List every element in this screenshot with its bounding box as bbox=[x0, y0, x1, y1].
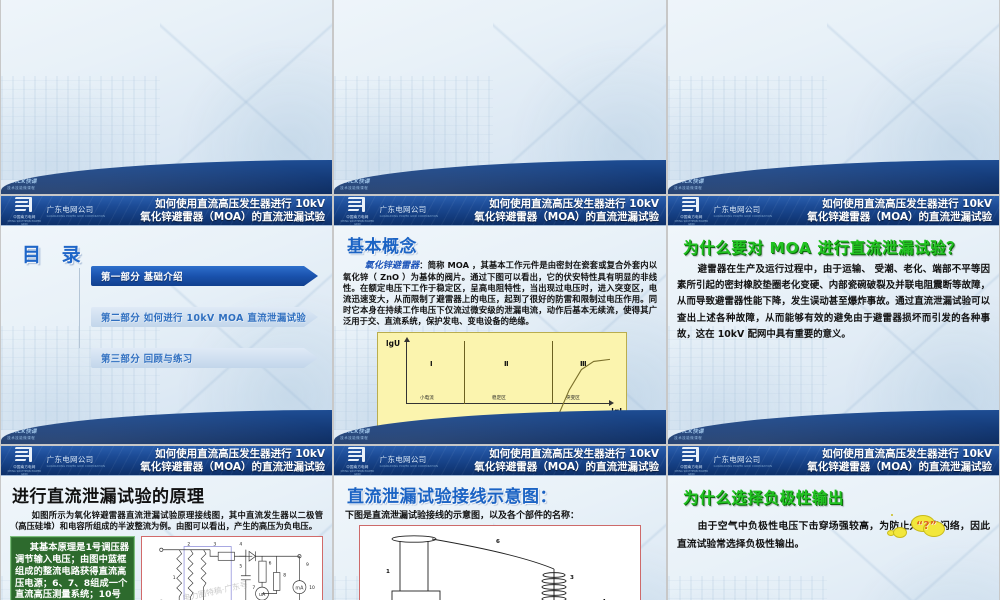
svg-text:uA: uA bbox=[259, 592, 266, 598]
logo-en-text: CHINA SOUTHERN POWER GRID bbox=[673, 220, 710, 226]
company-en: GUANGDONG POWER GRID CORPORATION bbox=[47, 465, 105, 468]
svg-text:3: 3 bbox=[213, 542, 216, 548]
slide-footer-band: QUICK快课 技术技能微课程 bbox=[1, 410, 332, 444]
header-title-line1: 如何使用直流高压发生器进行 10kV bbox=[772, 448, 992, 460]
slide-thumbnail-wiring[interactable]: 中国南方电网 CHINA SOUTHERN POWER GRID 广东电网公司 … bbox=[333, 445, 667, 600]
toc-item-label: 第一部分 基础介绍 bbox=[91, 269, 183, 283]
brand-logo: 中国南方电网 CHINA SOUTHERN POWER GRID 广东电网公司 … bbox=[1, 196, 105, 226]
watermark-brand: QUICK快课 bbox=[6, 429, 37, 435]
rectifier-circuit-diagram: uA mA 12 34 bbox=[141, 536, 323, 600]
header-title-line1: 如何使用直流高压发生器进行 10kV bbox=[105, 448, 325, 460]
slide-footer-band: QUICK快课 技术技能微课程 bbox=[668, 160, 999, 194]
slide-header: 中国南方电网 CHINA SOUTHERN POWER GRID 广东电网公司 … bbox=[1, 196, 332, 226]
body-paragraph: 下图是直流泄漏试验接线的示意图，以及各个部件的名称： bbox=[345, 510, 657, 522]
watermark-brand: QUICK快课 bbox=[339, 429, 370, 435]
brand-logo: 中国南方电网 CHINA SOUTHERN POWER GRID 广东电网公司 … bbox=[668, 196, 772, 226]
slide-thumbnail[interactable]: 拆线工具 若干 QUICK快课 技术技能微课程 bbox=[333, 0, 667, 195]
logo-en-text: CHINA SOUTHERN POWER GRID bbox=[339, 470, 376, 476]
logo-en-text: CHINA SOUTHERN POWER GRID bbox=[6, 220, 43, 226]
slide-header: 中国南方电网 CHINA SOUTHERN POWER GRID 广东电网公司 … bbox=[668, 196, 999, 226]
slide-header: 中国南方电网 CHINA SOUTHERN POWER GRID 广东电网公司 … bbox=[334, 196, 666, 226]
slide-header: 中国南方电网 CHINA SOUTHERN POWER GRID 广东电网公司 … bbox=[668, 446, 999, 476]
company-cn: 广东电网公司 bbox=[47, 204, 105, 215]
thought-cloud-icon: ? bbox=[891, 514, 947, 542]
body-paragraph: 如图所示为氧化锌避雷器直流泄漏试验原理接线图，其中直流发生器以二极管（高压硅堆）… bbox=[10, 510, 323, 532]
slide-thumbnail-why-dc-leakage[interactable]: 中国南方电网 CHINA SOUTHERN POWER GRID 广东电网公司 … bbox=[667, 195, 1000, 445]
header-title-line1: 如何使用直流高压发生器进行 10kV bbox=[438, 448, 659, 460]
header-title-line2: 氧化锌避雷器（MOA）的直流泄漏试验 bbox=[438, 461, 659, 473]
quick-watermark: QUICK快课 技术技能微课程 bbox=[673, 429, 704, 440]
page-title: 为什么要对 MOA 进行直流泄漏试验？ bbox=[683, 236, 990, 258]
header-title-line2: 氧化锌避雷器（MOA）的直流泄漏试验 bbox=[105, 461, 325, 473]
svg-text:5: 5 bbox=[239, 564, 242, 570]
toc-item-label: 第三部分 回顾与练习 bbox=[91, 351, 193, 365]
header-title-line1: 如何使用直流高压发生器进行 10kV bbox=[105, 198, 325, 210]
svg-text:2: 2 bbox=[187, 542, 190, 548]
header-title-line2: 氧化锌避雷器（MOA）的直流泄漏试验 bbox=[105, 211, 325, 223]
body-paragraph: 避雷器在生产及运行过程中，由于运输、 受潮、老化、端部不平等因素所引起的密封橡胶… bbox=[677, 262, 990, 343]
brand-logo: 中国南方电网 CHINA SOUTHERN POWER GRID 广东电网公司 … bbox=[334, 196, 438, 226]
company-cn: 广东电网公司 bbox=[714, 204, 772, 215]
page-title: 为什么选择负极性输出 bbox=[683, 486, 990, 508]
principle-green-callout: 其基本原理是1号调压器调节输入电压；由图中蓝框组成的整流电路获得直流高压电源；6… bbox=[10, 536, 135, 600]
watermark-sub: 技术技能微课程 bbox=[673, 186, 704, 190]
power-grid-logo-icon bbox=[681, 446, 701, 464]
header-title-line2: 氧化锌避雷器（MOA）的直流泄漏试验 bbox=[438, 211, 659, 223]
slide-footer-band: QUICK快课 技术技能微课程 bbox=[1, 160, 332, 194]
brand-logo: 中国南方电网 CHINA SOUTHERN POWER GRID 广东电网公司 … bbox=[334, 446, 438, 476]
svg-text:mA: mA bbox=[295, 586, 304, 592]
svg-text:8: 8 bbox=[283, 573, 286, 579]
company-cn: 广东电网公司 bbox=[47, 454, 105, 465]
svg-text:3: 3 bbox=[570, 575, 574, 581]
toc-item-2[interactable]: 第二部分 如何进行 10kV MOA 直流泄漏试验 bbox=[91, 307, 318, 327]
slide-header-title: 如何使用直流高压发生器进行 10kV 氧化锌避雷器（MOA）的直流泄漏试验 bbox=[438, 448, 666, 473]
header-title-line1: 如何使用直流高压发生器进行 10kV bbox=[772, 198, 992, 210]
slide-header-title: 如何使用直流高压发生器进行 10kV 氧化锌避雷器（MOA）的直流泄漏试验 bbox=[105, 448, 332, 473]
svg-text:9: 9 bbox=[306, 562, 309, 568]
watermark-brand: QUICK快课 bbox=[673, 429, 704, 435]
slide-footer-band: QUICK快课 技术技能微课程 bbox=[668, 410, 999, 444]
svg-text:1: 1 bbox=[386, 569, 390, 575]
page-title: 直流泄漏试验接线示意图： bbox=[347, 482, 657, 507]
quick-watermark: QUICK快课 技术技能微课程 bbox=[6, 179, 37, 190]
svg-text:1: 1 bbox=[173, 575, 176, 581]
watermark-brand: QUICK快课 bbox=[6, 179, 37, 185]
svg-text:6: 6 bbox=[496, 539, 500, 545]
slide-body: 直流泄漏试验接线示意图： 下图是直流泄漏试验接线的示意图，以及各个部件的名称： bbox=[334, 476, 666, 600]
slide-thumbnail-toc[interactable]: 中国南方电网 CHINA SOUTHERN POWER GRID 广东电网公司 … bbox=[0, 195, 333, 445]
toc-item-3[interactable]: 第三部分 回顾与练习 bbox=[91, 348, 318, 368]
company-cn: 广东电网公司 bbox=[380, 204, 438, 215]
company-en: GUANGDONG POWER GRID CORPORATION bbox=[714, 465, 772, 468]
slide-body: 为什么选择负极性输出 ? 由于空气中负极性电压下击穿场强较高，为防止外绝缘闪络，… bbox=[668, 476, 999, 600]
slide-thumbnail-basic-concept[interactable]: 中国南方电网 CHINA SOUTHERN POWER GRID 广东电网公司 … bbox=[333, 195, 667, 445]
page-title: 进行直流泄漏试验的原理 bbox=[12, 482, 323, 507]
watermark-sub: 技术技能微课程 bbox=[6, 436, 37, 440]
chart-plot-area: lgU lgI Ⅰ Ⅱ Ⅲ 小电流 稳定区 突变区 bbox=[384, 338, 620, 416]
slide-thumbnail[interactable]: QUICK快课 技术技能微课程 bbox=[667, 0, 1000, 195]
company-cn: 广东电网公司 bbox=[714, 454, 772, 465]
watermark-sub: 技术技能微课程 bbox=[339, 186, 370, 190]
brand-logo: 中国南方电网 CHINA SOUTHERN POWER GRID 广东电网公司 … bbox=[668, 446, 772, 476]
wiring-svg: 1 2 3 4 5 6 7 8 bbox=[363, 529, 637, 600]
slide-header-title: 如何使用直流高压发生器进行 10kV 氧化锌避雷器（MOA）的直流泄漏试验 bbox=[105, 198, 332, 223]
page-title: 目 录 bbox=[22, 240, 323, 267]
power-grid-logo-icon bbox=[681, 196, 701, 214]
toc-item-label: 第二部分 如何进行 10kV MOA 直流泄漏试验 bbox=[91, 310, 306, 324]
toc-item-1[interactable]: 第一部分 基础介绍 bbox=[91, 266, 318, 286]
power-grid-logo-icon bbox=[347, 196, 367, 214]
svg-text:7: 7 bbox=[252, 585, 255, 591]
svg-text:4: 4 bbox=[239, 542, 242, 548]
principle-content-row: 其基本原理是1号调压器调节输入电压；由图中蓝框组成的整流电路获得直流高压电源；6… bbox=[10, 536, 323, 600]
header-title-line1: 如何使用直流高压发生器进行 10kV bbox=[438, 198, 659, 210]
toc-list: 第一部分 基础介绍 第二部分 如何进行 10kV MOA 直流泄漏试验 第三部分… bbox=[91, 266, 318, 389]
svg-text:6: 6 bbox=[269, 561, 272, 567]
svg-text:10: 10 bbox=[309, 585, 315, 591]
logo-en-text: CHINA SOUTHERN POWER GRID bbox=[339, 220, 376, 226]
quick-watermark: QUICK快课 技术技能微课程 bbox=[339, 179, 370, 190]
header-title-line2: 氧化锌避雷器（MOA）的直流泄漏试验 bbox=[772, 461, 992, 473]
slide-thumbnail[interactable]: QUICK快课 技术技能微课程 bbox=[0, 0, 333, 195]
company-en: GUANGDONG POWER GRID CORPORATION bbox=[714, 215, 772, 218]
slide-thumbnail-principle[interactable]: 中国南方电网 CHINA SOUTHERN POWER GRID 广东电网公司 … bbox=[0, 445, 333, 600]
logo-en-text: CHINA SOUTHERN POWER GRID bbox=[673, 470, 710, 476]
slide-header-title: 如何使用直流高压发生器进行 10kV 氧化锌避雷器（MOA）的直流泄漏试验 bbox=[772, 448, 999, 473]
slide-body: 进行直流泄漏试验的原理 如图所示为氧化锌避雷器直流泄漏试验原理接线图，其中直流发… bbox=[1, 476, 332, 600]
slide-footer-band: QUICK快课 技术技能微课程 bbox=[334, 410, 666, 444]
power-grid-logo-icon bbox=[14, 446, 34, 464]
watermark-sub: 技术技能微课程 bbox=[673, 436, 704, 440]
slide-footer-band: QUICK快课 技术技能微课程 bbox=[334, 160, 666, 194]
page-title: 基本概念 bbox=[347, 232, 657, 257]
quick-watermark: QUICK快课 技术技能微课程 bbox=[673, 179, 704, 190]
logo-en-text: CHINA SOUTHERN POWER GRID bbox=[6, 470, 43, 476]
slide-header: 中国南方电网 CHINA SOUTHERN POWER GRID 广东电网公司 … bbox=[334, 446, 666, 476]
chart-ylabel: lgU bbox=[386, 339, 400, 348]
slide-thumbnail-negative-polarity[interactable]: 中国南方电网 CHINA SOUTHERN POWER GRID 广东电网公司 … bbox=[667, 445, 1000, 600]
quick-watermark: QUICK快课 技术技能微课程 bbox=[339, 429, 370, 440]
concept-paragraph: 氧化锌避雷器：简称 MOA ，其基本工作元件是由密封在瓷套或复合外套内以氧化锌（… bbox=[343, 260, 657, 328]
slide-header: 中国南方电网 CHINA SOUTHERN POWER GRID 广东电网公司 … bbox=[1, 446, 332, 476]
company-en: GUANGDONG POWER GRID CORPORATION bbox=[380, 465, 438, 468]
quick-watermark: QUICK快课 技术技能微课程 bbox=[6, 429, 37, 440]
toc-divider bbox=[79, 268, 80, 348]
slide-header-title: 如何使用直流高压发生器进行 10kV 氧化锌避雷器（MOA）的直流泄漏试验 bbox=[772, 198, 999, 223]
watermark-brand: QUICK快课 bbox=[339, 179, 370, 185]
header-title-line2: 氧化锌避雷器（MOA）的直流泄漏试验 bbox=[772, 211, 992, 223]
slide-thumbnail-grid: QUICK快课 技术技能微课程 拆线工具 若干 QUICK快课 技术技能微课程 … bbox=[0, 0, 1000, 545]
question-mark-glyph: ? bbox=[916, 519, 937, 532]
wiring-schematic: 1 2 3 4 5 6 7 8 AC220V 直流泄漏试验接线示意图 1、直流发… bbox=[359, 525, 641, 600]
concept-keyword: 氧化锌避雷器 bbox=[365, 261, 420, 271]
power-grid-logo-icon bbox=[347, 446, 367, 464]
watermark-brand: QUICK快课 bbox=[673, 179, 704, 185]
company-en: GUANGDONG POWER GRID CORPORATION bbox=[47, 215, 105, 218]
watermark-sub: 技术技能微课程 bbox=[339, 436, 370, 440]
watermark-sub: 技术技能微课程 bbox=[6, 186, 37, 190]
slide-header-title: 如何使用直流高压发生器进行 10kV 氧化锌避雷器（MOA）的直流泄漏试验 bbox=[438, 198, 666, 223]
power-grid-logo-icon bbox=[14, 196, 34, 214]
company-cn: 广东电网公司 bbox=[380, 454, 438, 465]
brand-logo: 中国南方电网 CHINA SOUTHERN POWER GRID 广东电网公司 … bbox=[1, 446, 105, 476]
company-en: GUANGDONG POWER GRID CORPORATION bbox=[380, 215, 438, 218]
